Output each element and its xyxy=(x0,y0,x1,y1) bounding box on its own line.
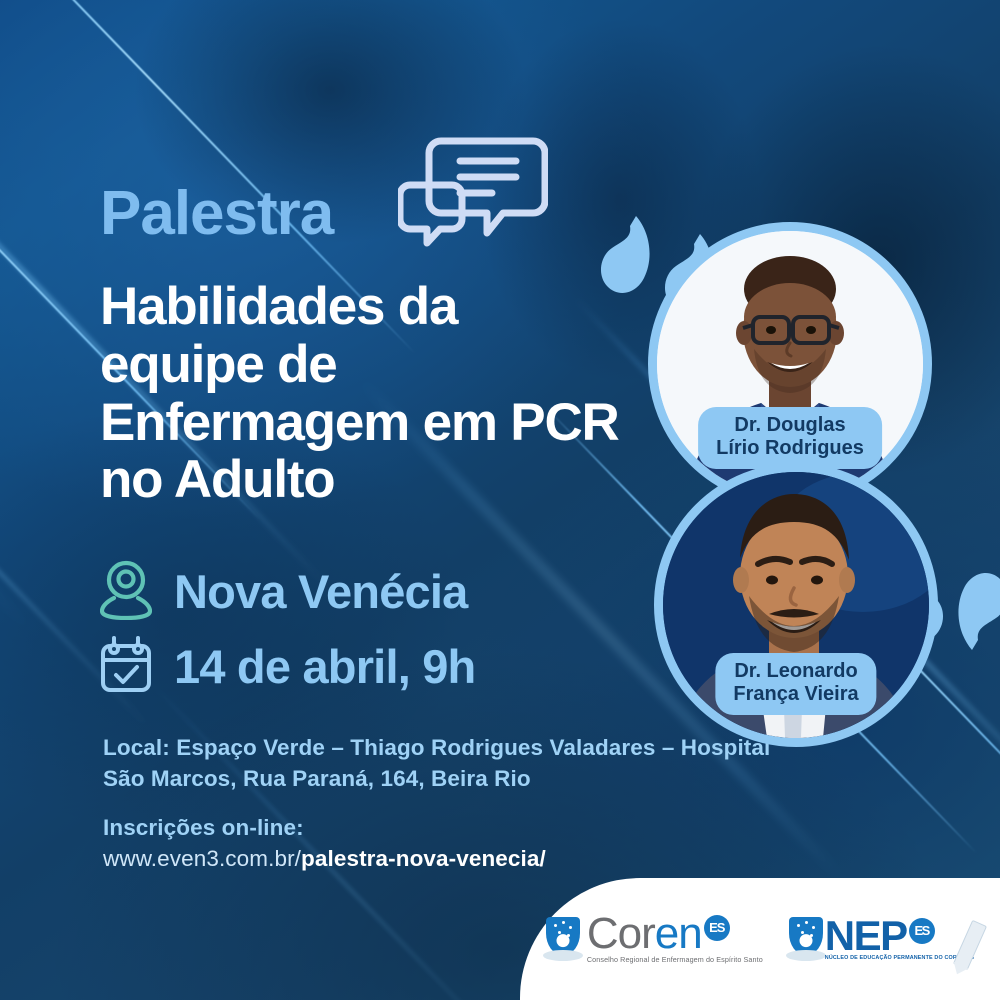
nep-shield-icon xyxy=(789,917,823,961)
coren-wordmark: CorenES xyxy=(587,914,763,954)
coren-word-dark: Cor xyxy=(587,909,655,958)
page-title: Habilidades da equipe de Enfermagem em P… xyxy=(100,278,620,509)
event-location-text: Nova Venécia xyxy=(174,568,467,615)
speaker-name-line1: Dr. Leonardo xyxy=(733,660,858,683)
nep-word-text: NEP xyxy=(825,912,907,959)
calendar-check-icon xyxy=(100,635,152,698)
signup-block: Inscrições on-line: www.even3.com.br/pal… xyxy=(103,812,783,874)
coren-es-badge: ES xyxy=(704,915,730,941)
nep-tagline: NÚCLEO DE EDUCAÇÃO PERMANENTE DO COREN-E… xyxy=(825,955,974,961)
footer-logo-bar: CorenES Conselho Regional de Enfermagem … xyxy=(520,878,1000,1000)
nep-es-badge: ES xyxy=(909,918,935,944)
speaker-card-2: Dr. Leonardo França Vieira xyxy=(654,463,938,747)
coren-logo: CorenES Conselho Regional de Enfermagem … xyxy=(546,914,763,964)
speaker-name-line2: Lírio Rodrigues xyxy=(716,437,864,460)
coren-shield-icon xyxy=(546,917,580,961)
nep-wordmark: NEPES xyxy=(825,917,974,955)
page-kicker: Palestra xyxy=(100,183,333,245)
event-location-row: Nova Venécia xyxy=(100,558,467,625)
speaker-name-badge-2: Dr. Leonardo França Vieira xyxy=(715,653,876,715)
coren-word-blue: en xyxy=(655,909,702,958)
event-date-row: 14 de abril, 9h xyxy=(100,635,475,698)
signup-url-domain: www.even3.com.br/ xyxy=(103,846,301,871)
speech-bubbles-icon xyxy=(398,133,548,248)
coren-tagline: Conselho Regional de Enfermagem do Espír… xyxy=(587,955,763,964)
speaker-name-line1: Dr. Douglas xyxy=(716,414,864,437)
location-pin-icon xyxy=(100,558,152,625)
poster-canvas: Palestra Habilidades da equipe de Enferm… xyxy=(0,0,1000,1000)
signup-url-path: palestra-nova-venecia/ xyxy=(301,846,546,871)
speaker-name-badge-1: Dr. Douglas Lírio Rodrigues xyxy=(698,407,882,469)
nep-logo: NEPES NÚCLEO DE EDUCAÇÃO PERMANENTE DO C… xyxy=(789,917,974,961)
signup-url[interactable]: www.even3.com.br/palestra-nova-venecia/ xyxy=(103,843,783,874)
speaker-name-line2: França Vieira xyxy=(733,683,858,706)
event-date-text: 14 de abril, 9h xyxy=(174,643,475,690)
signup-label: Inscrições on-line: xyxy=(103,812,783,843)
